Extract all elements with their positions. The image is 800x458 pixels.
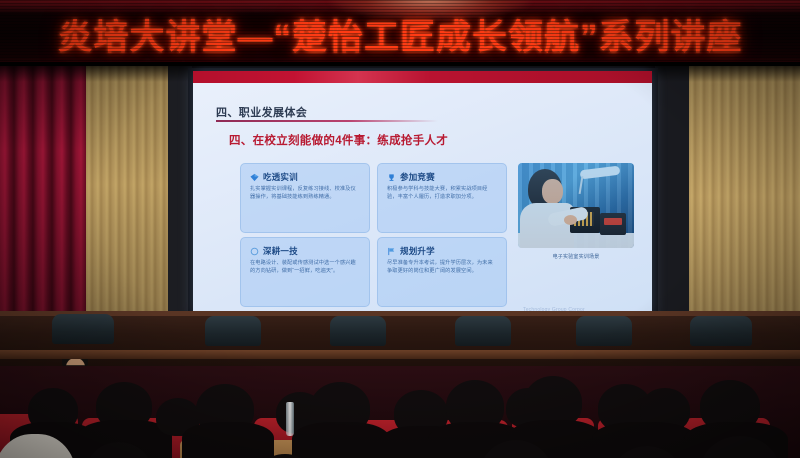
slide-card-3-title: 深耕一技	[263, 245, 298, 257]
photo-blue-tint-overlay	[518, 163, 634, 248]
gem-icon	[250, 173, 259, 182]
slide-card-1-text: 扎实掌握实训课程，反复练习接线、校准及仪器操作，将基础技能练到熟练精通。	[250, 185, 360, 201]
projection-screen: 四、职业发展体会 四、在校立刻能做的4件事：练成抢手人才 吃透实训 扎实掌握实训…	[193, 71, 652, 317]
slide-body: 四、职业发展体会 四、在校立刻能做的4件事：练成抢手人才 吃透实训 扎实掌握实训…	[193, 83, 652, 317]
head-table-top-edge	[0, 311, 800, 316]
circle-icon	[250, 247, 259, 256]
stage-chair	[455, 316, 511, 346]
slide-card-4: 规划升学 尽早准备专升本考试，提升学历层次，为未来争取更好的岗位和更广阔的发展空…	[377, 237, 507, 307]
trophy-icon	[387, 173, 396, 182]
led-banner: 炎培大讲堂—“楚怡工匠成长领航”系列讲座	[0, 0, 800, 66]
audience-water-bottle	[286, 402, 294, 436]
left-wall-shading	[86, 66, 170, 348]
electronics-lab-photo	[518, 163, 634, 248]
head-table-front-panel	[0, 350, 800, 359]
auditorium-room: 四、职业发展体会 四、在校立刻能做的4件事：练成抢手人才 吃透实训 扎实掌握实训…	[0, 66, 800, 458]
head-table	[0, 311, 800, 369]
slide-photo-block: 电子实验室实训场景	[518, 163, 634, 266]
stage-chair	[576, 316, 632, 346]
slide-card-1: 吃透实训 扎实掌握实训课程，反复练习接线、校准及仪器操作，将基础技能练到熟练精通…	[240, 163, 370, 233]
right-dark-wall-panel	[655, 66, 691, 348]
slide-card-2-header: 参加竞赛	[387, 171, 435, 183]
slide-subtitle: 四、在校立刻能做的4件事：练成抢手人才	[229, 132, 448, 148]
stage-chair	[330, 316, 386, 346]
slide-card-2: 参加竞赛 积极参与学科与技能大赛，积累实战项目经验，丰富个人履历，打造求职加分项…	[377, 163, 507, 233]
slide-card-2-title: 参加竞赛	[400, 171, 435, 183]
slide-card-grid: 吃透实训 扎实掌握实训课程，反复练习接线、校准及仪器操作，将基础技能练到熟练精通…	[240, 163, 505, 305]
slide-card-4-text: 尽早准备专升本考试，提升学历层次，为未来争取更好的岗位和更广阔的发展空间。	[387, 259, 497, 275]
slide-card-2-text: 积极参与学科与技能大赛，积累实战项目经验，丰富个人履历，打造求职加分项。	[387, 185, 497, 201]
audience-area	[0, 366, 800, 458]
lecture-hall-screenshot: 炎培大讲堂—“楚怡工匠成长领航”系列讲座 四、职业发展体会 四、在校立刻能做的4…	[0, 0, 800, 458]
slide-card-3-header: 深耕一技	[250, 245, 298, 257]
curtain-shading	[0, 66, 88, 348]
slide-card-4-title: 规划升学	[400, 245, 435, 257]
stage-chair	[690, 316, 752, 346]
slide-photo-caption: 电子实验室实训场景	[518, 253, 634, 260]
slide-header-band	[193, 71, 652, 83]
slide-title-underline	[216, 120, 438, 122]
slide-card-3: 深耕一技 在电路设计、装配或传感测试中选一个感兴趣的方向钻研，做到“一招鲜，吃遍…	[240, 237, 370, 307]
led-banner-text: 炎培大讲堂—“楚怡工匠成长领航”系列讲座	[0, 8, 800, 60]
audience-shoulders	[292, 422, 390, 458]
slide-card-1-title: 吃透实训	[263, 171, 298, 183]
stage-chair	[52, 314, 114, 344]
slide-card-1-header: 吃透实训	[250, 171, 298, 183]
slide-card-4-header: 规划升学	[387, 245, 435, 257]
flag-icon	[387, 247, 396, 256]
slide-card-3-text: 在电路设计、装配或传感测试中选一个感兴趣的方向钻研，做到“一招鲜，吃遍天”。	[250, 259, 360, 275]
audience-shoulders	[182, 422, 274, 458]
slide-title: 四、职业发展体会	[216, 104, 307, 120]
stage-chair	[205, 316, 261, 346]
